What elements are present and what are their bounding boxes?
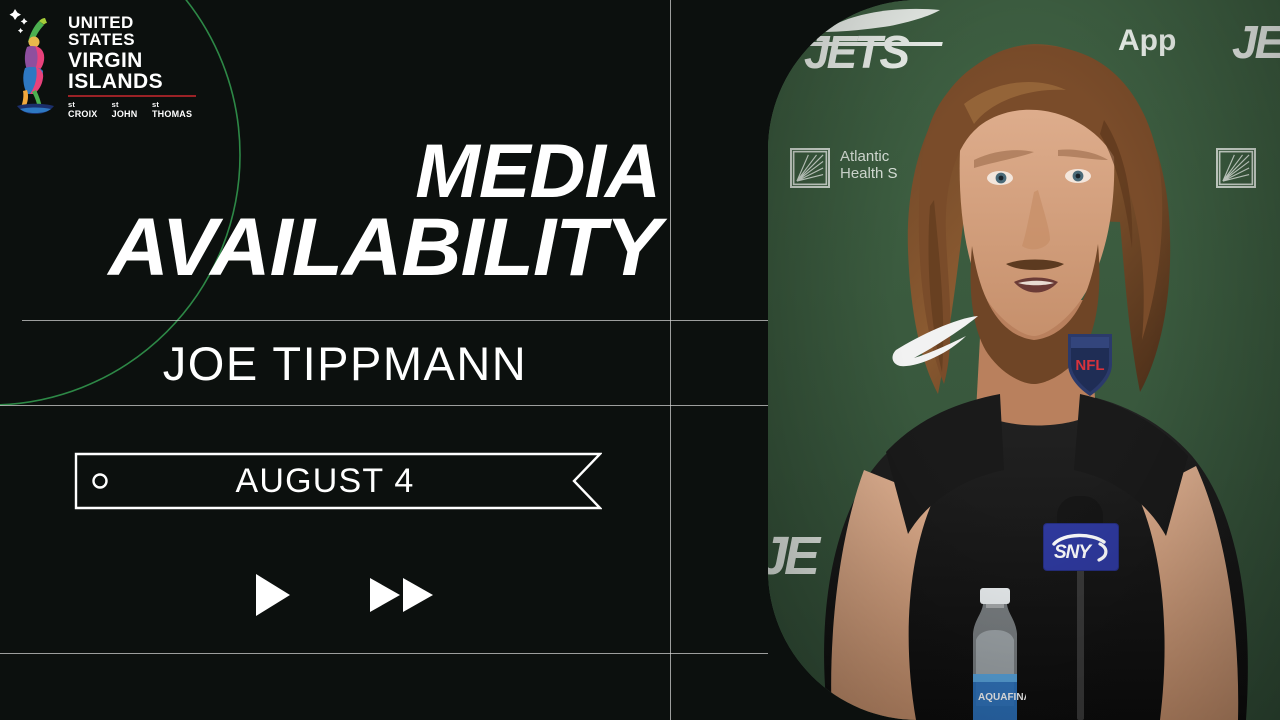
divider-vertical [670,0,671,720]
divider-above-name [22,320,768,321]
playback-controls [20,560,670,630]
logo-line-2: STATES [68,31,196,48]
speaker-name-row: JOE TIPPMANN [20,322,670,404]
title-line-2: AVAILABILITY [7,209,660,288]
video-panel[interactable]: JETS App JE Atlantic Health S [768,0,1280,720]
usvi-logo: UNITED STATES VIRGIN ISLANDS st CROIX st… [8,6,178,118]
logo-line-1: UNITED [68,14,196,31]
island-st-thomas: st THOMAS [152,99,196,119]
island-st-croix: st CROIX [68,99,103,119]
date-label: AUGUST 4 [74,452,602,510]
play-icon[interactable] [252,571,294,619]
date-banner: AUGUST 4 [74,452,602,510]
divider-bottom [0,653,768,654]
usvi-dancer-icon [8,6,64,118]
island-st-john: st JOHN [112,99,143,119]
broadcast-graphic: UNITED STATES VIRGIN ISLANDS st CROIX st… [0,0,1280,720]
logo-line-3: VIRGIN [68,50,196,71]
title-line-1: MEDIA [7,136,660,209]
logo-line-4: ISLANDS [68,71,196,92]
usvi-logo-text: UNITED STATES VIRGIN ISLANDS st CROIX st… [68,6,196,119]
usvi-island-list: st CROIX st JOHN st THOMAS [68,99,196,119]
fast-forward-icon[interactable] [368,571,438,619]
logo-divider [68,95,196,97]
video-vignette [768,0,1280,720]
speaker-name: JOE TIPPMANN [163,336,527,391]
divider-below-name [0,405,768,406]
page-title: MEDIA AVAILABILITY [7,136,660,288]
